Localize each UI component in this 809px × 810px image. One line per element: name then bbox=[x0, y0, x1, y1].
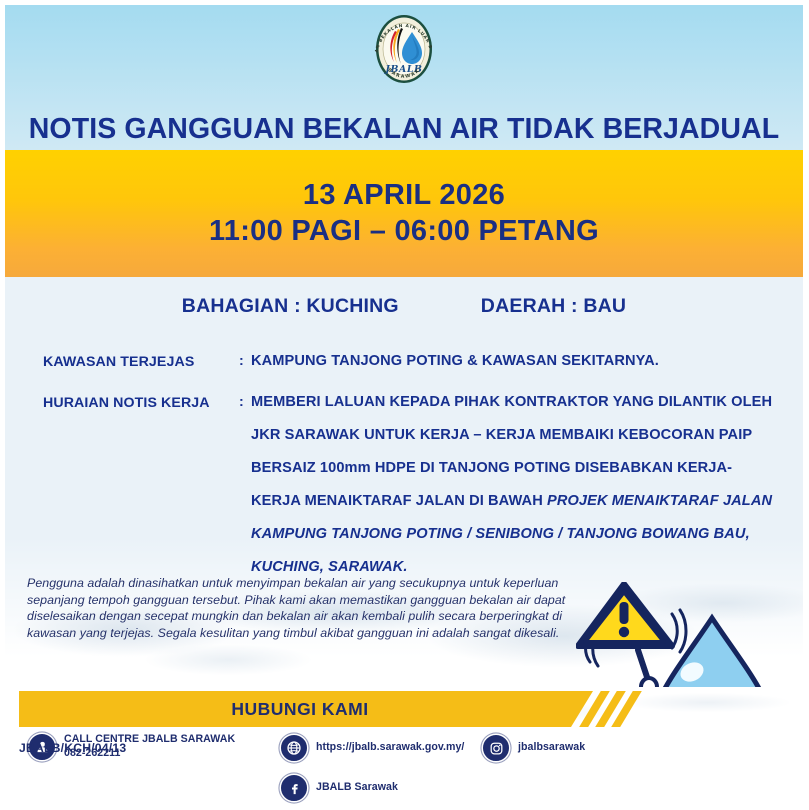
poster-header: JBALB JABATAN BEKALAN AIR LUAR BANDAR SA… bbox=[5, 5, 803, 150]
website-url: https://jbalb.sarawak.gov.my/ bbox=[316, 741, 464, 755]
region-row: BAHAGIAN : KUCHING DAERAH : BAU bbox=[5, 295, 803, 318]
contact-website[interactable]: https://jbalb.sarawak.gov.my/ bbox=[281, 735, 464, 761]
work-line-2: JKR SARAWAK UNTUK KERJA – KERJA MEMBAIKI… bbox=[251, 427, 773, 443]
facebook-icon bbox=[281, 775, 307, 801]
disclaimer-text: Pengguna adalah dinasihatkan untuk menyi… bbox=[27, 575, 587, 641]
title-container: NOTIS GANGGUAN BEKALAN AIR TIDAK BERJADU… bbox=[5, 113, 803, 146]
reference-number: JBALB/KCH/04/13 bbox=[19, 741, 126, 755]
affected-area-row: KAWASAN TERJEJAS : KAMPUNG TANJONG POTIN… bbox=[43, 353, 773, 370]
work-line-6: KUCHING, SARAWAK. bbox=[251, 559, 773, 575]
notice-poster: JBALB JABATAN BEKALAN AIR LUAR BANDAR SA… bbox=[0, 0, 809, 810]
affected-area-label: KAWASAN TERJEJAS bbox=[43, 353, 239, 370]
jbalb-logo: JBALB JABATAN BEKALAN AIR LUAR BANDAR SA… bbox=[368, 9, 440, 89]
affected-area-colon: : bbox=[239, 353, 251, 370]
work-line-5: KAMPUNG TANJONG POTING / SENIBONG / TANJ… bbox=[251, 526, 773, 542]
notice-time: 11:00 PAGI – 06:00 PETANG bbox=[209, 215, 599, 248]
instagram-icon bbox=[483, 735, 509, 761]
contact-instagram[interactable]: jbalbsarawak bbox=[483, 735, 585, 761]
work-line-4-project: PROJEK MENAIKTARAF JALAN bbox=[547, 493, 772, 509]
contact-header-bar: HUBUNGI KAMI bbox=[19, 691, 593, 727]
contact-facebook[interactable]: JBALB Sarawak bbox=[281, 775, 398, 801]
work-line-1: MEMBERI LALUAN KEPADA PIHAK KONTRAKTOR Y… bbox=[251, 394, 773, 410]
info-block: KAWASAN TERJEJAS : KAMPUNG TANJONG POTIN… bbox=[43, 353, 773, 599]
work-line-4-plain: KERJA MENAIKTARAF JALAN DI BAWAH bbox=[251, 493, 547, 509]
notice-date: 13 APRIL 2026 bbox=[303, 179, 505, 212]
work-line-4: KERJA MENAIKTARAF JALAN DI BAWAH PROJEK … bbox=[251, 493, 773, 509]
page-title: NOTIS GANGGUAN BEKALAN AIR TIDAK BERJADU… bbox=[5, 113, 803, 146]
contact-header-title: HUBUNGI KAMI bbox=[231, 699, 368, 720]
work-description-value: MEMBERI LALUAN KEPADA PIHAK KONTRAKTOR Y… bbox=[251, 394, 773, 575]
notice-body: BAHAGIAN : KUCHING DAERAH : BAU KAWASAN … bbox=[5, 277, 803, 687]
affected-area-value: KAMPUNG TANJONG POTING & KAWASAN SEKITAR… bbox=[251, 353, 773, 370]
date-time-banner: 13 APRIL 2026 11:00 PAGI – 06:00 PETANG bbox=[5, 150, 803, 277]
work-line-3: BERSAIZ 100mm HDPE DI TANJONG POTING DIS… bbox=[251, 460, 773, 476]
poster-footer: HUBUNGI KAMI CALL CENTRE JBALB SARAWAK 0… bbox=[5, 687, 803, 804]
daerah-label: DAERAH : BAU bbox=[481, 295, 626, 318]
work-description-colon: : bbox=[239, 394, 251, 575]
work-description-row: HURAIAN NOTIS KERJA : MEMBERI LALUAN KEP… bbox=[43, 394, 773, 575]
bahagian-label: BAHAGIAN : KUCHING bbox=[182, 295, 399, 318]
poster-sheet: JBALB JABATAN BEKALAN AIR LUAR BANDAR SA… bbox=[5, 5, 803, 804]
work-description-label: HURAIAN NOTIS KERJA bbox=[43, 394, 239, 575]
instagram-handle: jbalbsarawak bbox=[518, 741, 585, 755]
facebook-handle: JBALB Sarawak bbox=[316, 781, 398, 795]
globe-icon bbox=[281, 735, 307, 761]
